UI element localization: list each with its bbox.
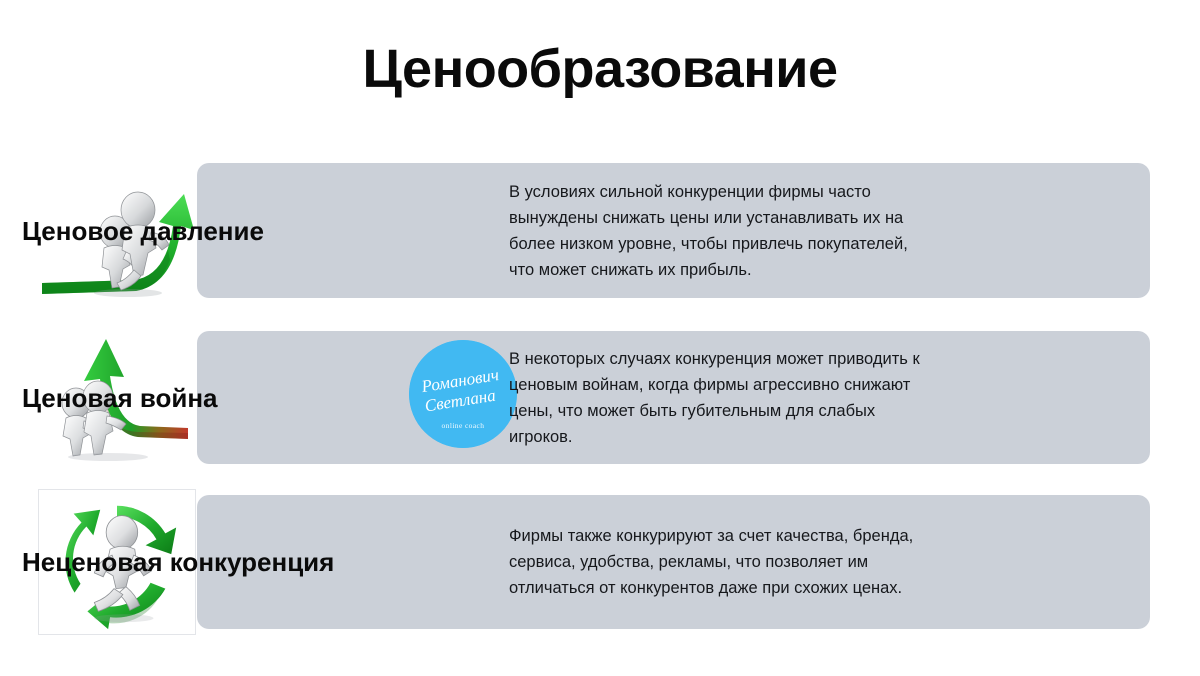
row-body-text: В условиях сильной конкуренции фирмы час… (509, 179, 929, 283)
content-row: Неценовая конкуренция Фирмы также конкур… (0, 495, 1200, 629)
row-heading: Ценовое давление (22, 215, 264, 247)
page-title: Ценообразование (0, 38, 1200, 100)
row-body-text: В некоторых случаях конкуренция может пр… (509, 346, 929, 450)
row-heading: Неценовая конкуренция (22, 546, 334, 578)
row-body-text: Фирмы также конкурируют за счет качества… (509, 523, 929, 601)
content-row: Ценовая война Романович Светлана online … (0, 331, 1200, 464)
row-heading: Ценовая война (22, 382, 218, 414)
slide-canvas: Ценообразование (0, 0, 1200, 676)
watermark-logo: Романович Светлана online coach (409, 340, 517, 448)
watermark-tagline: online coach (442, 421, 485, 430)
content-row: Ценовое давление В условиях сильной конк… (0, 163, 1200, 298)
